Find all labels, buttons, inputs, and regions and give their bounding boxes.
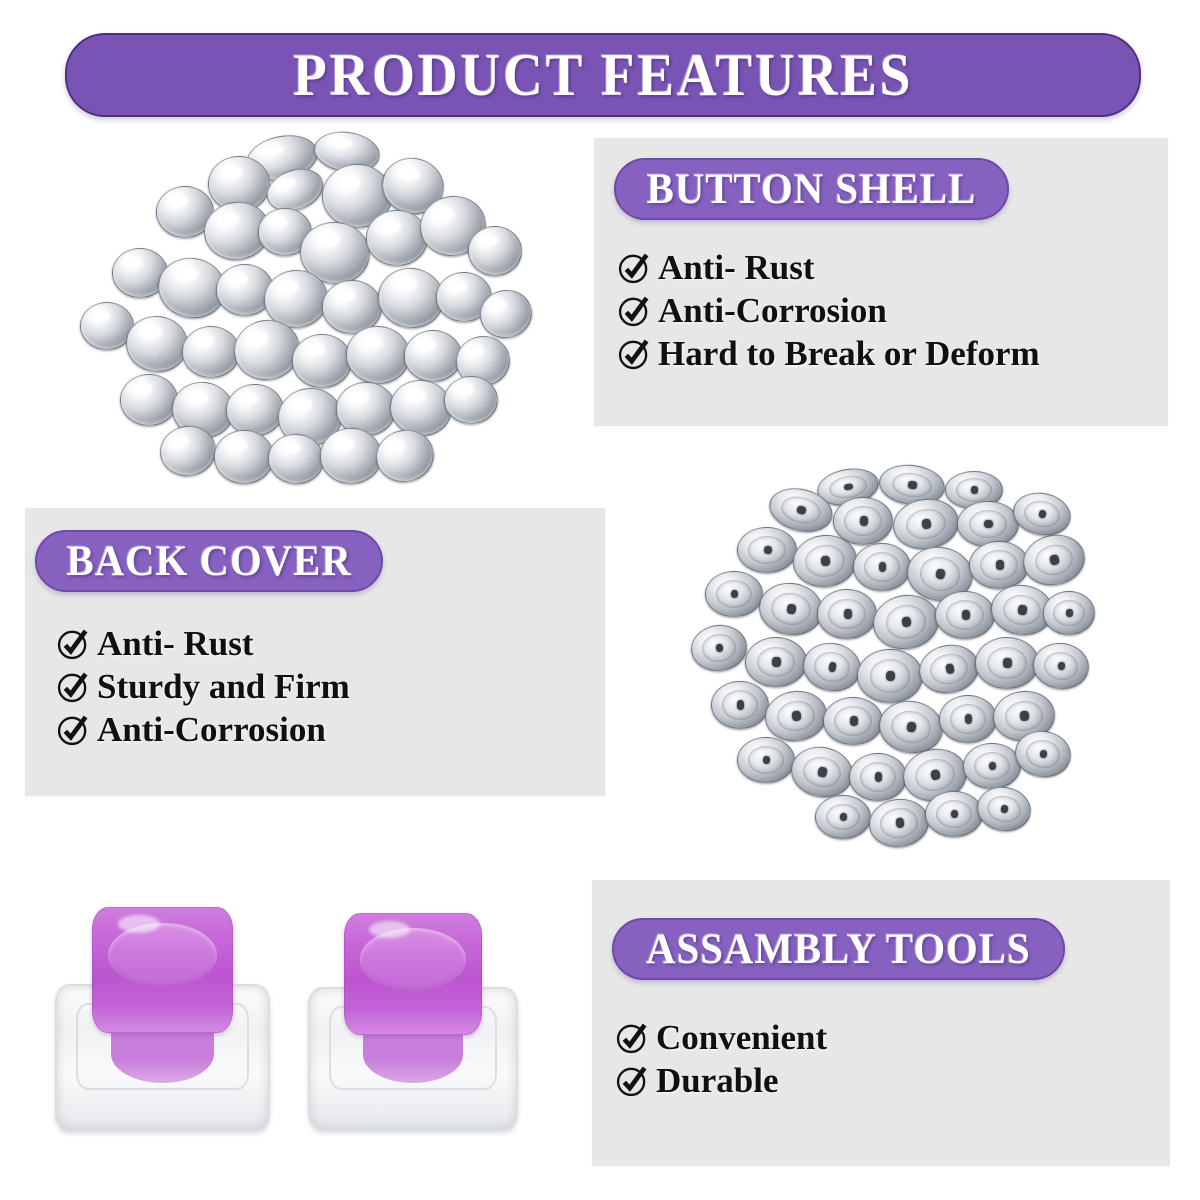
back-cover-item (1043, 591, 1095, 635)
assembly-tools-photo (30, 895, 530, 1150)
check-circle-icon (55, 712, 91, 748)
back-cover-item (756, 579, 827, 639)
feature-list-item-label: Anti-Corrosion (97, 712, 326, 749)
tool-cap-highlight (369, 921, 410, 938)
back-cover-item (1010, 488, 1075, 540)
button-shell-item (468, 226, 522, 276)
back-cover-item (849, 753, 907, 801)
back-cover-item (963, 743, 1021, 789)
check-circle-icon (616, 250, 652, 286)
back-cover-item (939, 695, 997, 743)
back-cover-item (745, 637, 807, 687)
feature-list-button-shell: Anti- Rust Anti-Corrosion Hard to Break … (616, 250, 1040, 378)
assembly-tool-item (55, 907, 270, 1132)
check-circle-icon (55, 626, 91, 662)
section-badge-assembly-tools: ASSAMBLY TOOLS (612, 918, 1065, 980)
back-cover-item (975, 637, 1039, 689)
back-cover-item (957, 501, 1019, 547)
button-shell-item (226, 384, 284, 436)
back-cover-item (705, 571, 763, 617)
check-circle-icon (614, 1063, 650, 1099)
feature-list-item: Anti- Rust (616, 250, 1040, 287)
button-shells-pile (60, 130, 550, 500)
page-title: PRODUCT FEATURES (293, 45, 913, 105)
feature-list-item: Convenient (614, 1020, 827, 1057)
feature-list-item: Anti-Corrosion (616, 293, 1040, 330)
feature-list-item: Anti-Corrosion (55, 712, 350, 749)
button-shell-item (366, 210, 428, 266)
feature-list-item-label: Hard to Break or Deform (658, 336, 1040, 373)
back-cover-item (762, 687, 830, 745)
back-cover-item (890, 495, 962, 554)
back-cover-item (853, 543, 911, 591)
feature-panel-back-cover: BACK COVER Anti- Rust Sturdy and Firm (25, 508, 605, 796)
back-cover-item (969, 541, 1029, 589)
back-covers-pile-photo (665, 465, 1095, 855)
feature-list-assembly-tools: Convenient Durable (614, 1020, 827, 1106)
feature-list-item: Anti- Rust (55, 626, 350, 663)
back-cover-item (817, 589, 877, 639)
section-title-back-cover: BACK COVER (67, 540, 352, 583)
feature-list-item-label: Convenient (656, 1020, 827, 1057)
product-features-infographic: PRODUCT FEATURES (0, 0, 1200, 1200)
feature-list-item: Hard to Break or Deform (616, 336, 1040, 373)
back-cover-item (935, 591, 995, 639)
back-cover-item (866, 796, 931, 851)
assembly-tool-item (308, 913, 518, 1131)
back-cover-item (1018, 529, 1089, 591)
tool-cap-top-face (108, 923, 217, 987)
check-circle-icon (614, 1020, 650, 1056)
back-cover-item (1030, 640, 1091, 692)
feature-list-item: Sturdy and Firm (55, 669, 350, 706)
back-cover-item (823, 697, 883, 745)
back-cover-item (815, 795, 871, 839)
button-shell-item (292, 334, 352, 388)
back-cover-item (737, 737, 795, 783)
back-cover-item (711, 681, 769, 729)
check-circle-icon (616, 293, 652, 329)
back-covers-pile (665, 465, 1095, 855)
back-cover-item (688, 622, 749, 674)
tool-cap-highlight (118, 915, 160, 932)
button-shell-item (444, 376, 498, 424)
back-cover-item (737, 527, 797, 573)
section-badge-back-cover: BACK COVER (35, 530, 383, 592)
feature-list-item: Durable (614, 1063, 827, 1100)
feature-list-item-label: Sturdy and Firm (97, 669, 350, 706)
tool-purple-cap (92, 907, 234, 1033)
tool-cap-top-face (360, 928, 467, 990)
back-cover-item (787, 742, 857, 803)
back-cover-item (974, 783, 1035, 836)
section-title-button-shell: BUTTON SHELL (647, 168, 977, 211)
back-cover-item (857, 649, 923, 703)
button-shell-item (404, 330, 462, 382)
back-cover-item (925, 791, 983, 837)
section-title-assembly-tools: ASSAMBLY TOOLS (646, 928, 1031, 971)
button-shell-item (320, 428, 382, 484)
button-shell-item (120, 374, 178, 426)
feature-list-item-label: Durable (656, 1063, 779, 1100)
button-shell-item (214, 430, 274, 484)
feature-list-item-label: Anti- Rust (658, 250, 815, 287)
button-shell-item (182, 326, 240, 378)
section-badge-button-shell: BUTTON SHELL (614, 158, 1009, 220)
feature-list-back-cover: Anti- Rust Sturdy and Firm Anti-Corrosio… (55, 626, 350, 754)
back-cover-item (915, 640, 983, 699)
tool-purple-cap (344, 913, 483, 1035)
feature-panel-button-shell: BUTTON SHELL Anti- Rust Anti-Corrosion (594, 138, 1168, 426)
check-circle-icon (616, 336, 652, 372)
feature-list-item-label: Anti- Rust (97, 626, 254, 663)
button-shells-pile-photo (60, 130, 550, 500)
page-title-banner: PRODUCT FEATURES (65, 33, 1141, 117)
back-cover-item (799, 638, 864, 695)
feature-list-item-label: Anti-Corrosion (658, 293, 887, 330)
check-circle-icon (55, 669, 91, 705)
feature-panel-assembly-tools: ASSAMBLY TOOLS Convenient Durable (592, 880, 1170, 1166)
